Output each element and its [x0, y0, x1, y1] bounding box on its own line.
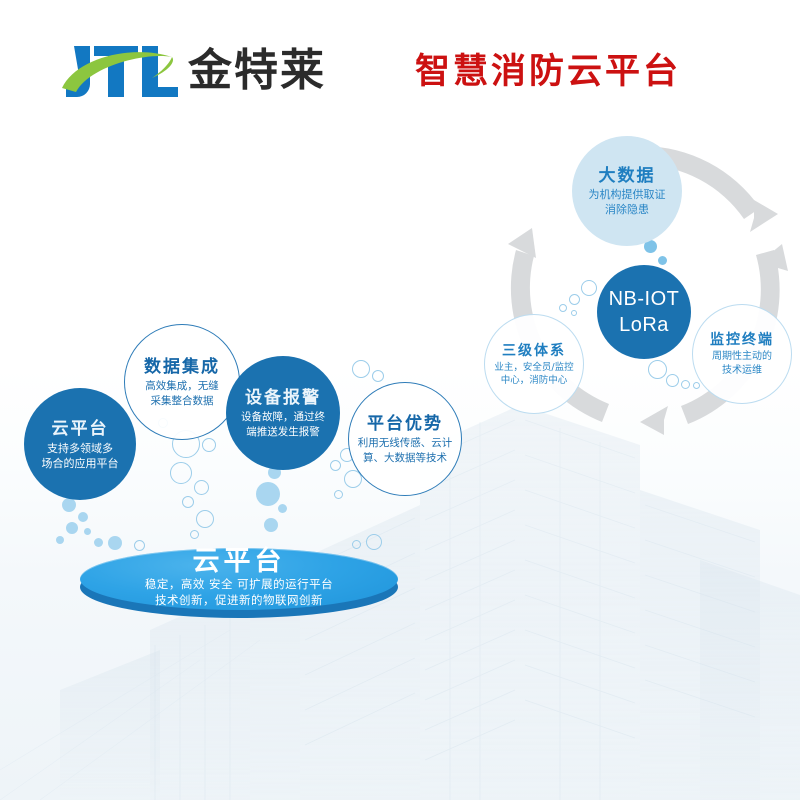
node-big-data-title: 大数据: [599, 165, 656, 187]
bubble-cloud-platform-title: 云平台: [52, 418, 109, 441]
bubble-platform-advantage-desc-2: 算、大数据等技术: [363, 451, 447, 466]
bubble-platform-advantage[interactable]: 平台优势 利用无线传感、云计 算、大数据等技术: [348, 382, 462, 496]
node-big-data-desc-1: 为机构提供取证: [589, 187, 666, 202]
node-nbiot-line-2: LoRa: [619, 312, 669, 338]
platform-title: 云平台: [193, 548, 286, 576]
page-title: 智慧消防云平台: [415, 50, 681, 94]
platform-ellipse[interactable]: 云平台 稳定，高效 安全 可扩展的运行平台 技术创新，促进新的物联网创新: [80, 548, 398, 610]
bubble-data-integration-desc-2: 采集整合数据: [151, 394, 214, 409]
bubble-cloud-platform[interactable]: 云平台 支持多领域多 场合的应用平台: [24, 388, 136, 500]
brand-name-cn: 金特莱: [188, 43, 326, 99]
node-three-tier-title: 三级体系: [502, 342, 566, 361]
node-monitor-terminal-desc-2: 技术运维: [722, 364, 762, 378]
bubble-device-alarm-title: 设备报警: [245, 387, 321, 410]
decorative-bubbles-ring-left: [553, 280, 598, 325]
poster-canvas: 金特莱 智慧消防云平台 大数据 为机构提供取证 消除隐患 NB-IOT LoRa…: [0, 0, 800, 800]
bubble-data-integration[interactable]: 数据集成 高效集成，无缝 采集整合数据: [124, 324, 240, 440]
node-big-data[interactable]: 大数据 为机构提供取证 消除隐患: [572, 136, 682, 246]
node-three-tier-desc-2: 中心，消防中心: [501, 374, 568, 387]
decorative-bubbles-platform-right: [352, 534, 392, 558]
bubble-device-alarm-desc-1: 设备故障，通过终: [241, 410, 325, 425]
brand-logo[interactable]: 金特莱: [60, 40, 360, 102]
platform-line-2: 技术创新，促进新的物联网创新: [155, 592, 323, 608]
bubble-data-integration-desc-1: 高效集成，无缝: [145, 379, 219, 394]
node-monitor-terminal-title: 监控终端: [710, 331, 774, 350]
bubble-device-alarm-desc-2: 端推送发生报警: [246, 425, 320, 440]
jtl-logo-icon: [60, 40, 178, 102]
bubble-platform-advantage-title: 平台优势: [367, 413, 443, 436]
node-monitor-terminal[interactable]: 监控终端 周期性主动的 技术运维: [692, 304, 792, 404]
bubble-platform-advantage-desc-1: 利用无线传感、云计: [358, 436, 453, 451]
page-header: 金特莱 智慧消防云平台: [0, 0, 800, 128]
node-monitor-terminal-desc-1: 周期性主动的: [712, 350, 772, 364]
node-three-tier-desc-1: 业主，安全员/监控: [494, 361, 573, 374]
bubble-cloud-platform-desc-2: 场合的应用平台: [42, 456, 119, 471]
node-nbiot-lora[interactable]: NB-IOT LoRa: [597, 265, 691, 359]
bubble-data-integration-title: 数据集成: [144, 356, 220, 379]
node-nbiot-line-1: NB-IOT: [609, 286, 680, 312]
bubble-cloud-platform-desc-1: 支持多领域多: [47, 441, 113, 456]
node-three-tier[interactable]: 三级体系 业主，安全员/监控 中心，消防中心: [484, 314, 584, 414]
node-big-data-desc-2: 消除隐患: [605, 202, 649, 217]
bubble-device-alarm[interactable]: 设备报警 设备故障，通过终 端推送发生报警: [226, 356, 340, 470]
platform-line-1: 稳定，高效 安全 可扩展的运行平台: [145, 576, 333, 592]
